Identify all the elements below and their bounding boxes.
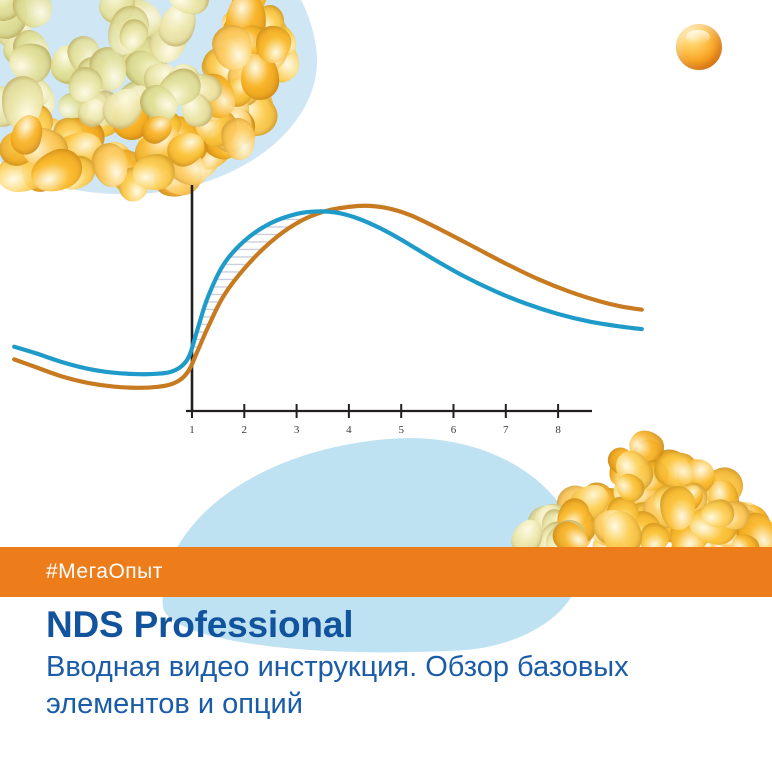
orange-sphere-logo-icon [676,24,722,70]
page-subtitle: Вводная видео инструкция. Обзор базовых … [46,649,706,723]
chart-x-tick-label: 2 [242,424,248,436]
chart-x-tick-labels: 12345678 [189,424,561,436]
corn-kernels-bottom-right [512,424,772,564]
chart-x-tick-label: 4 [346,424,352,436]
chart-x-tick-label: 5 [398,424,404,436]
chart-x-tick-label: 7 [503,424,509,436]
page-title: NDS Professional [46,606,736,645]
hashtag-label: #МегаОпыт [46,560,163,584]
blue-curve [14,211,642,374]
text-block: NDS Professional Вводная видео инструкци… [46,606,736,723]
hashtag-banner: #МегаОпыт [0,547,772,597]
chart-x-tick-label: 3 [294,424,300,436]
orange-curve [14,206,642,388]
chart-x-tick-label: 6 [451,424,457,436]
chart-axes [186,185,592,418]
chart-x-tick-label: 1 [189,424,195,436]
promo-card: 12345678 #МегаОпыт NDS Professional Ввод… [0,0,772,772]
